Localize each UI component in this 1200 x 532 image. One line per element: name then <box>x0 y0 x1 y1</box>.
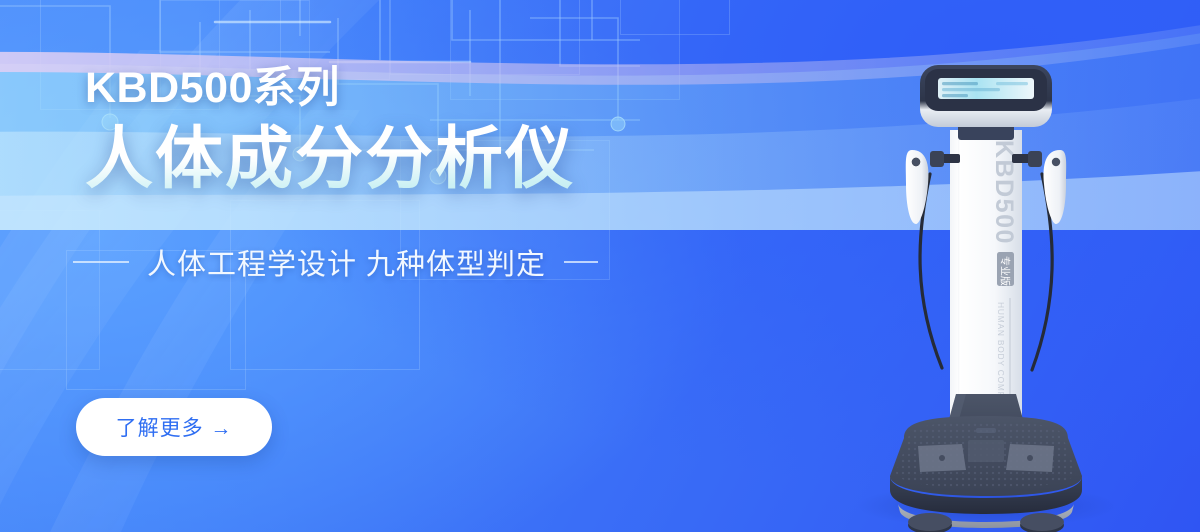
page-title: 人体成分分析仪 <box>85 123 725 195</box>
tagline-row: 人体工程学设计 九种体型判定 <box>73 241 653 283</box>
tagline-dash-right <box>564 261 598 263</box>
product-device-image: KBD500 专业版 HUMAN BODY COMPOSITION ANALYZ… <box>846 38 1126 532</box>
device-badge-text: 专业版 <box>999 256 1012 286</box>
hero-text-block: KBD500系列 人体成分分析仪 人体工程学设计 九种体型判定 <box>85 66 725 283</box>
tagline-dash-left <box>73 261 129 263</box>
tagline-text: 人体工程学设计 九种体型判定 <box>147 241 546 283</box>
learn-more-button[interactable]: 了解更多 → <box>76 398 272 456</box>
learn-more-label: 了解更多 → <box>116 412 233 442</box>
product-hero-banner: KBD500系列 人体成分分析仪 人体工程学设计 九种体型判定 了解更多 → <box>0 0 1200 532</box>
product-series-label: KBD500系列 <box>85 66 725 111</box>
